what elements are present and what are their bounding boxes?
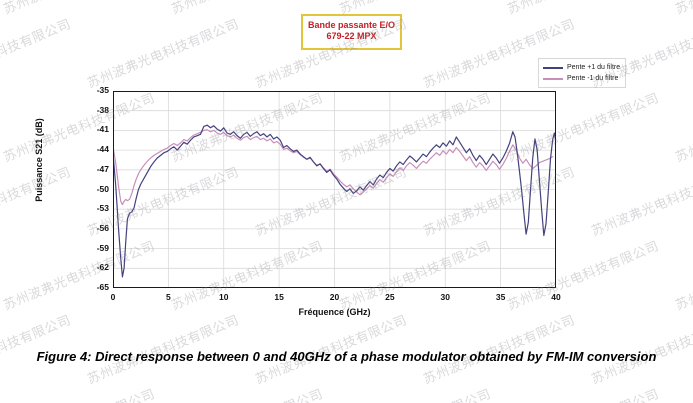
legend-item-0[interactable]: Pente +1 du filtre: [543, 62, 620, 73]
chart-legend: Pente +1 du filtrePente -1 du filtre: [538, 58, 626, 88]
plot-frame-border: [113, 91, 556, 288]
y-tick-label-9: -62: [75, 262, 109, 272]
y-tick-label-8: -59: [75, 243, 109, 253]
legend-swatch-icon: [543, 78, 563, 80]
legend-item-label: Pente -1 du filtre: [567, 75, 618, 82]
x-axis-ticks: 0510152025303540: [113, 292, 556, 306]
x-tick-label-8: 40: [541, 292, 571, 302]
chart-title-line-1: Bande passante E/O: [305, 20, 398, 31]
x-tick-label-5: 25: [375, 292, 405, 302]
chart-title-line-2: 679-22 MPX: [305, 31, 398, 42]
y-axis-label: Puissance S21 (dB): [34, 90, 44, 230]
x-axis-label: Fréquence (GHz): [113, 307, 556, 317]
y-tick-label-1: -38: [75, 105, 109, 115]
y-tick-label-5: -50: [75, 184, 109, 194]
x-tick-label-6: 30: [430, 292, 460, 302]
x-tick-label-0: 0: [98, 292, 128, 302]
y-axis-ticks: -35-38-41-44-47-50-53-56-59-62-65: [73, 91, 109, 288]
y-tick-label-2: -41: [75, 124, 109, 134]
plot-area: [113, 91, 556, 288]
legend-item-label: Pente +1 du filtre: [567, 64, 620, 71]
y-tick-label-10: -65: [75, 282, 109, 292]
x-tick-label-1: 5: [153, 292, 183, 302]
y-tick-label-4: -47: [75, 164, 109, 174]
x-tick-label-4: 20: [320, 292, 350, 302]
figure-caption: Figure 4: Direct response between 0 and …: [26, 348, 667, 367]
legend-item-1[interactable]: Pente -1 du filtre: [543, 73, 620, 84]
x-tick-label-2: 10: [209, 292, 239, 302]
x-tick-label-3: 15: [264, 292, 294, 302]
y-tick-label-0: -35: [75, 85, 109, 95]
y-tick-label-3: -44: [75, 144, 109, 154]
legend-swatch-icon: [543, 67, 563, 69]
chart-title-box: Bande passante E/O 679-22 MPX: [301, 14, 402, 50]
figure-container: Bande passante E/O 679-22 MPX Pente +1 d…: [0, 0, 693, 403]
y-tick-label-6: -53: [75, 203, 109, 213]
x-tick-label-7: 35: [486, 292, 516, 302]
y-tick-label-7: -56: [75, 223, 109, 233]
